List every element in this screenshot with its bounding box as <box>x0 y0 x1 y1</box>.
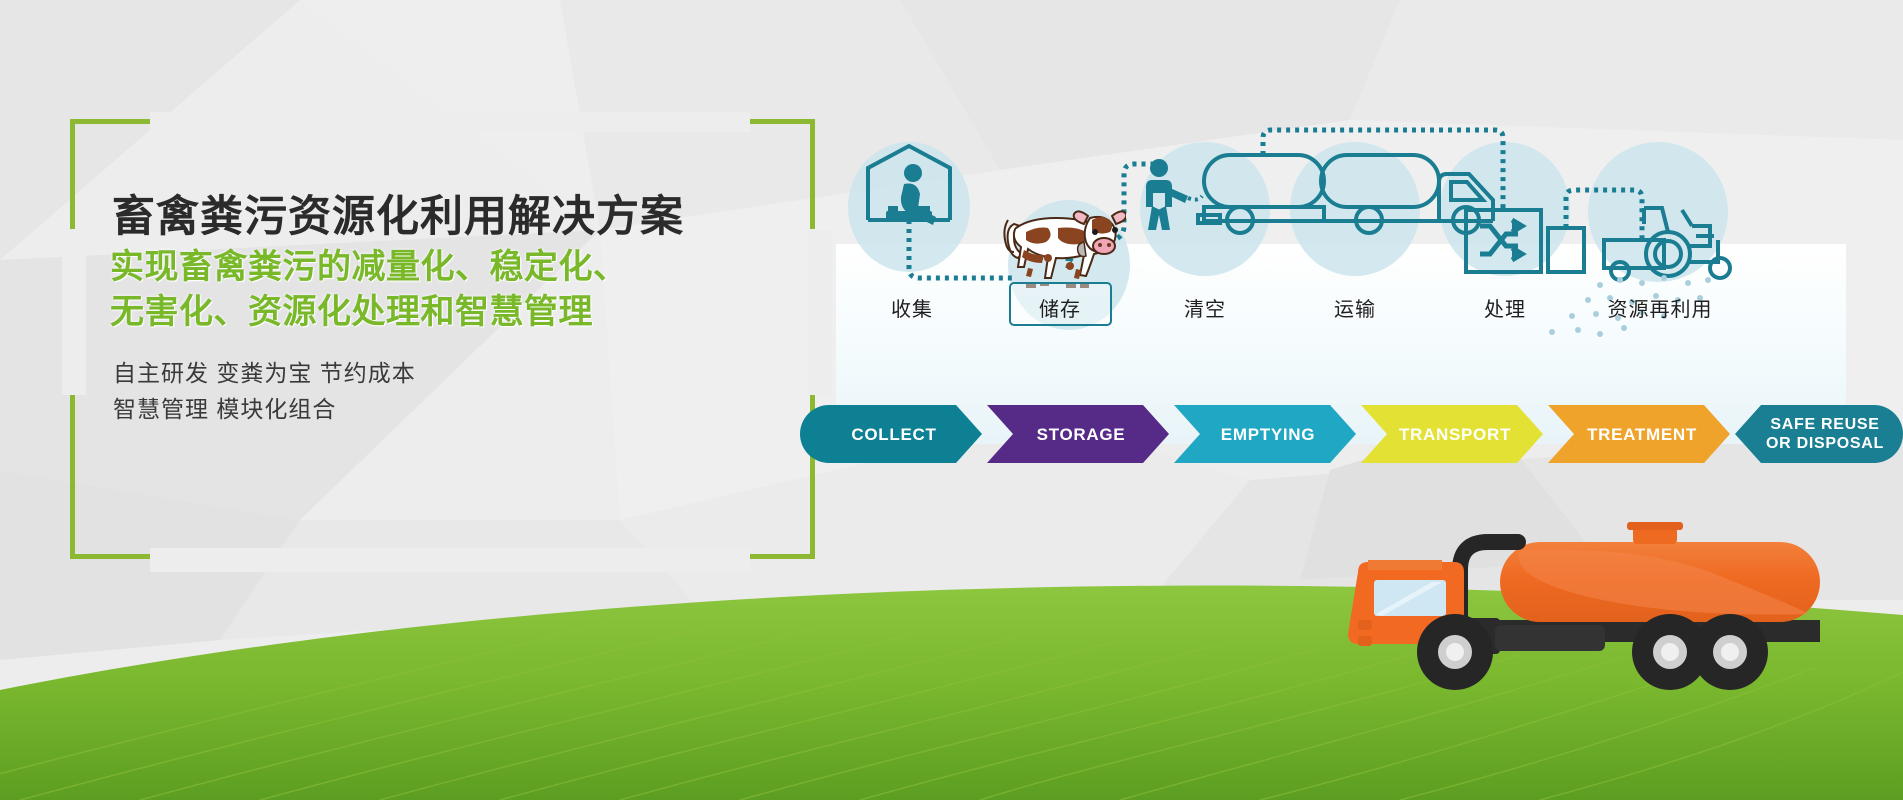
chevron-label-safe-reuse-line1: SAFE REUSE <box>1764 416 1879 433</box>
cow-icon <box>996 198 1126 294</box>
frame-mask <box>150 112 750 132</box>
tagline-line-1: 自主研发 变粪为宝 节约成本 <box>113 355 416 391</box>
diagram-icons <box>800 120 1903 440</box>
chevron-label-safe-reuse-line2: OR DISPOSAL <box>1760 435 1884 452</box>
farm-scene <box>0 500 1903 800</box>
chevron-label-transport: TRANSPORT <box>1393 425 1511 444</box>
step-label-emptying: 清空 <box>1165 293 1245 322</box>
tagline-line-2: 智慧管理 模块化组合 <box>113 391 416 427</box>
step-label-treatment: 处理 <box>1465 293 1545 322</box>
subtitle-line-2: 无害化、资源化处理和智慧管理 <box>110 290 628 335</box>
hero-banner: 畜禽粪污资源化利用解决方案 实现畜禽粪污的减量化、稳定化、 无害化、资源化处理和… <box>0 0 1903 800</box>
chevron-safe-reuse[interactable]: SAFE REUSE OR DISPOSAL <box>1735 405 1903 463</box>
chevron-transport[interactable]: TRANSPORT <box>1361 405 1543 463</box>
step-label-reuse: 资源再利用 <box>1590 293 1730 322</box>
chevron-emptying[interactable]: EMPTYING <box>1174 405 1356 463</box>
step-label-collect: 收集 <box>872 293 952 322</box>
subtitle: 实现畜禽粪污的减量化、稳定化、 无害化、资源化处理和智慧管理 <box>110 245 628 335</box>
step-label-storage: 储存 <box>1020 293 1100 322</box>
person-collecting-icon <box>886 164 936 225</box>
chevron-collect[interactable]: COLLECT <box>800 405 982 463</box>
chevron-storage[interactable]: STORAGE <box>987 405 1169 463</box>
tagline-list: 自主研发 变粪为宝 节约成本 智慧管理 模块化组合 <box>113 355 416 427</box>
chevron-label-storage: STORAGE <box>1031 425 1126 444</box>
chevron-label-collect: COLLECT <box>845 425 936 444</box>
tractor-spreader-icon <box>1604 208 1730 280</box>
worker-icon <box>1146 159 1188 230</box>
hero-text-block: 畜禽粪污资源化利用解决方案 实现畜禽粪污的减量化、稳定化、 无害化、资源化处理和… <box>0 0 830 560</box>
chevron-treatment[interactable]: TREATMENT <box>1548 405 1730 463</box>
process-chevron-bar: COLLECT STORAGE EMPTYING TRANSPORT TREAT… <box>800 405 1903 463</box>
step-label-transport: 运输 <box>1315 293 1395 322</box>
frame-mask <box>62 230 86 395</box>
subtitle-line-1: 实现畜禽粪污的减量化、稳定化、 <box>110 245 628 290</box>
chevron-label-emptying: EMPTYING <box>1215 425 1315 444</box>
chevron-label-treatment: TREATMENT <box>1581 425 1697 444</box>
process-diagram: 收集 储存 清空 运输 处理 资源再利用 <box>800 120 1903 440</box>
chevron-label-safe-reuse: SAFE REUSE OR DISPOSAL <box>1754 415 1884 453</box>
page-title: 畜禽粪污资源化利用解决方案 <box>112 182 684 244</box>
tanker-trailer-icon <box>1204 155 1324 207</box>
